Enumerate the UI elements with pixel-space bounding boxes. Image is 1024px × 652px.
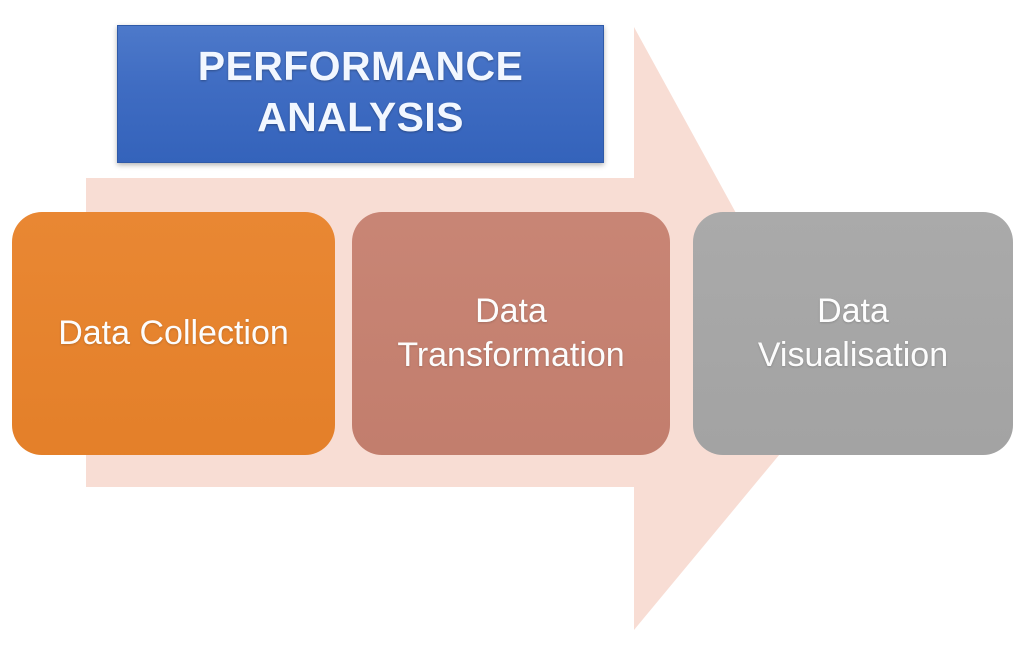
stage-label-data-collection: Data Collection [48,312,299,356]
stage-label-data-transformation: Data Transformation [387,290,634,377]
performance-analysis-diagram: PERFORMANCE ANALYSIS Data Collection Dat… [0,0,1024,652]
stage-label-data-visualisation: Data Visualisation [748,290,958,377]
stage-box-data-transformation[interactable]: Data Transformation [352,212,670,455]
stage-box-data-collection[interactable]: Data Collection [12,212,335,455]
title-banner: PERFORMANCE ANALYSIS [117,25,604,163]
page-title: PERFORMANCE ANALYSIS [198,41,524,147]
stage-box-data-visualisation[interactable]: Data Visualisation [693,212,1013,455]
